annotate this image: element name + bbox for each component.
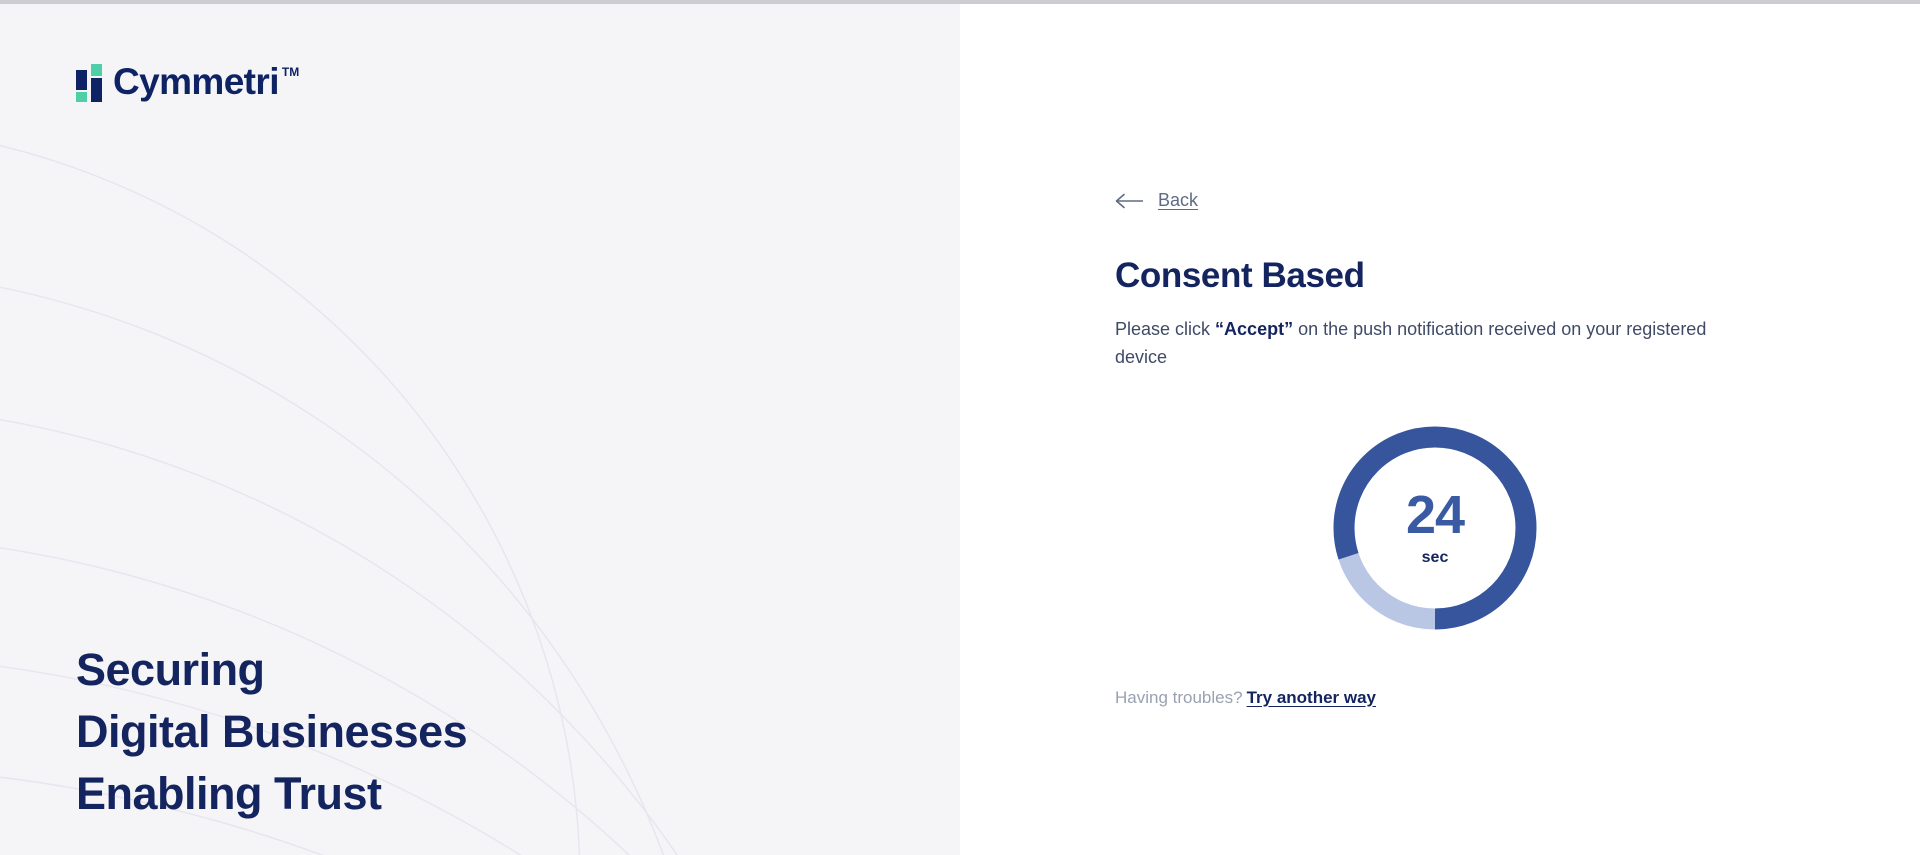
back-link-label: Back (1158, 190, 1198, 211)
cymmetri-logo-mark-icon (76, 64, 106, 102)
trouble-question: Having troubles? (1115, 688, 1243, 707)
countdown-value: 24 (1406, 488, 1464, 542)
trouble-row: Having troubles?Try another way (1115, 688, 1755, 708)
brand-name: Cymmetri (113, 62, 279, 102)
auth-page: Cymmetri TM Securing Digital Businesses … (0, 0, 1920, 855)
tagline-line-3: Enabling Trust (76, 763, 467, 825)
countdown-unit: sec (1422, 549, 1449, 567)
page-title: Consent Based (1115, 256, 1755, 296)
instructions-emphasis: “Accept” (1215, 319, 1293, 339)
try-another-way-link[interactable]: Try another way (1247, 688, 1376, 707)
brand-logo: Cymmetri TM (76, 62, 299, 106)
tagline: Securing Digital Businesses Enabling Tru… (76, 639, 467, 825)
arrow-left-icon (1115, 193, 1145, 209)
instructions-text: Please click “Accept” on the push notifi… (1115, 315, 1715, 371)
auth-form-panel: Back Consent Based Please click “Accept”… (960, 4, 1920, 855)
countdown-container: 24 sec (1115, 424, 1755, 632)
trademark-symbol: TM (282, 66, 299, 78)
form-column: Back Consent Based Please click “Accept”… (1115, 4, 1755, 708)
countdown-timer: 24 sec (1331, 424, 1539, 632)
back-link[interactable]: Back (1115, 190, 1198, 211)
branding-panel: Cymmetri TM Securing Digital Businesses … (0, 4, 960, 855)
countdown-readout: 24 sec (1331, 424, 1539, 632)
tagline-line-1: Securing (76, 639, 467, 701)
instructions-prefix: Please click (1115, 319, 1215, 339)
tagline-line-2: Digital Businesses (76, 701, 467, 763)
